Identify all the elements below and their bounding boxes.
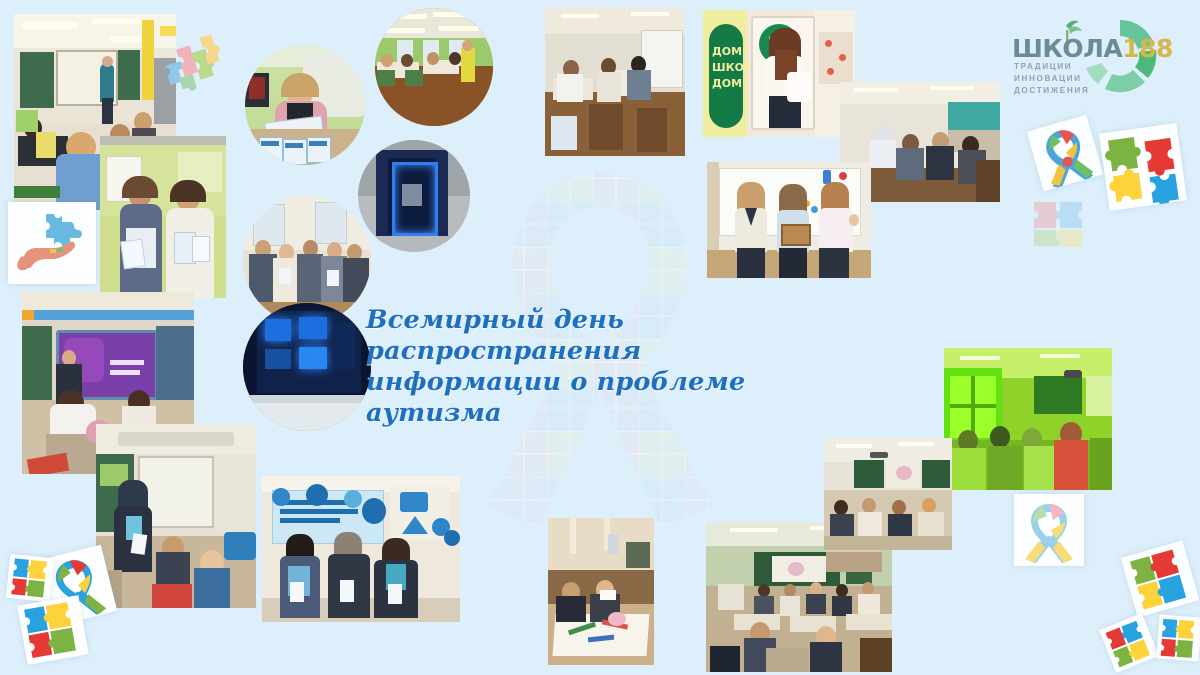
logo-name-number: 188 (1122, 34, 1173, 63)
photo-lesson-students (545, 8, 685, 156)
puzzle-card-bottomright-3 (1157, 615, 1200, 662)
puzzle-cluster-icon (1099, 613, 1159, 673)
puzzle-cluster-icon (1157, 615, 1200, 662)
photo-dom-shkola-dom: ДОМШКОЛАДОМ (703, 10, 855, 137)
puzzle-card-bottomright-1 (1121, 540, 1200, 617)
page-title: Всемирный день распространения информаци… (366, 305, 836, 429)
photo-three-girls-box (707, 162, 871, 278)
hand-puzzle-icon (8, 202, 96, 284)
school-logo: ШКОЛА188 ТРАДИЦИИ ИННОВАЦИИ ДОСТИЖЕНИЯ (1002, 4, 1192, 104)
title-line-2: информации о проблеме аутизма (366, 367, 745, 428)
photo-teacher-whiteboard (96, 424, 256, 608)
puzzle-cluster-icon (17, 595, 88, 665)
logo-tagline-2: ИННОВАЦИИ (1014, 74, 1082, 83)
puzzle-ribbon-icon (1027, 115, 1104, 192)
puzzle-four-pieces-icon (1099, 123, 1187, 211)
hand-puzzle-card (8, 202, 96, 284)
puzzle-card-bottomleft-2 (17, 595, 88, 665)
ribbon-card-right (1027, 115, 1104, 192)
photo-two-women-leaflets (100, 136, 226, 298)
photo-three-women-stand (262, 476, 460, 622)
puzzle-cluster-icon (6, 554, 54, 602)
logo-name-main: ШКОЛА (1012, 34, 1122, 63)
photo-lesson-pale-classroom (824, 438, 952, 550)
title-line-1: Всемирный день распространения (366, 305, 641, 366)
photo-girls-drawing (548, 518, 654, 665)
puzzle-cluster-right-pale (1028, 196, 1090, 252)
puzzle-cluster-icon (1121, 540, 1200, 617)
photo-woman-desk-leaflets (245, 45, 365, 165)
photo-building-blue-night (243, 303, 371, 431)
logo-tagline-3: ДОСТИЖЕНИЯ (1014, 86, 1089, 95)
puzzle-card-bottomleft-1 (6, 554, 54, 602)
photo-class-green-light (944, 348, 1112, 490)
puzzle-card-right-bright (1099, 123, 1187, 211)
photo-library-hall (375, 8, 493, 126)
photo-building-blue-light (358, 140, 470, 252)
ribbon-card-bottomright (1014, 494, 1084, 566)
puzzle-card-bottomright-2 (1099, 613, 1159, 673)
puzzle-cluster-topleft (162, 35, 226, 97)
pastel-puzzle-ribbon-icon (1014, 494, 1084, 566)
logo-wordmark: ШКОЛА188 (1012, 34, 1173, 64)
logo-tagline-1: ТРАДИЦИИ (1014, 62, 1072, 71)
poster-canvas: ДОМШКОЛАДОМ (0, 0, 1200, 675)
